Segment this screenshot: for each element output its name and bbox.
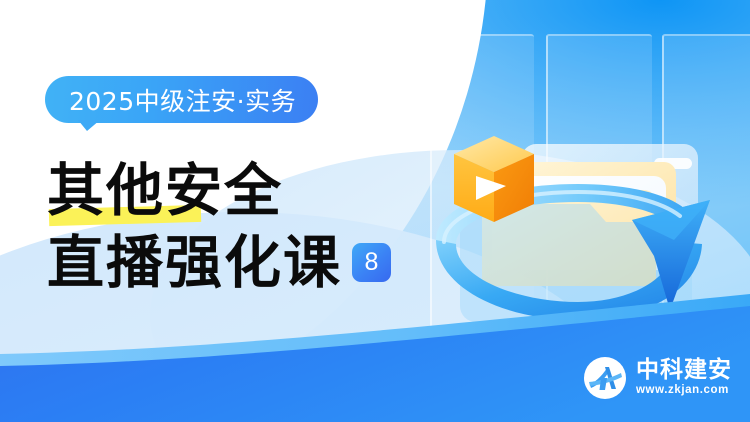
brand-logo-text: 中科建安 www.zkjan.com xyxy=(636,359,732,397)
category-badge-label: 2025中级注安·实务 xyxy=(69,82,296,118)
headline-line-1: 其他安全 xyxy=(47,154,467,226)
headline-line-2-text: 直播强化课 xyxy=(47,234,342,291)
brand-name: 中科建安 xyxy=(636,359,732,382)
category-badge-tail xyxy=(78,120,100,131)
headline-line-1-text: 其他安全 xyxy=(47,162,283,219)
zkjan-circle-mark-icon xyxy=(583,356,627,400)
headline-block: 其他安全 直播强化课 8 xyxy=(47,154,467,298)
brand-url: www.zkjan.com xyxy=(636,385,732,397)
course-banner: 2025中级注安·实务 其他安全 直播强化课 8 中科建安 www.zkjan xyxy=(0,0,750,422)
brand-logo: 中科建安 www.zkjan.com xyxy=(583,356,732,400)
category-badge-pill: 2025中级注安·实务 xyxy=(45,76,318,123)
episode-number-badge: 8 xyxy=(352,243,391,282)
category-badge: 2025中级注安·实务 xyxy=(45,76,318,123)
headline-line-2: 直播强化课 8 xyxy=(47,226,467,298)
